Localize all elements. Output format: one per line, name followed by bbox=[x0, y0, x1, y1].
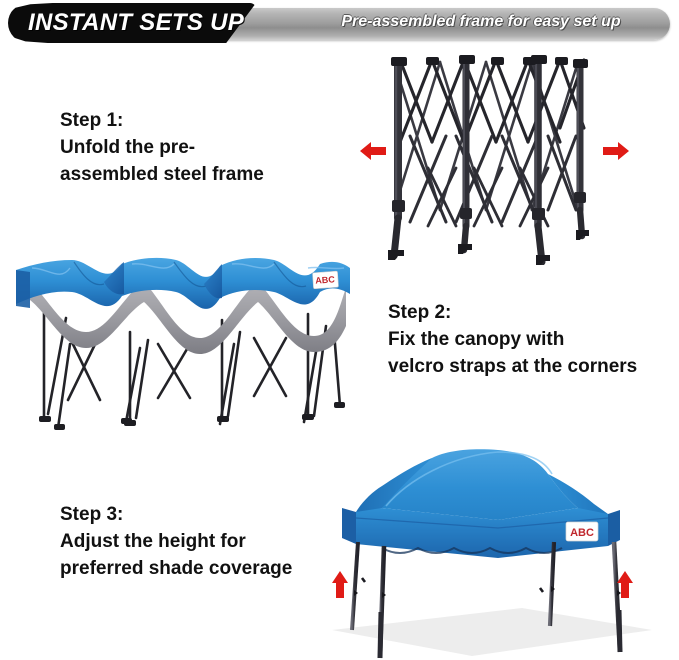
step-2-text: Step 2: Fix the canopy with velcro strap… bbox=[388, 300, 673, 381]
canopy-blue-top bbox=[16, 258, 350, 309]
logo-patch: ABC bbox=[566, 522, 598, 541]
banner-title: INSTANT SETS UP bbox=[28, 9, 248, 37]
arrow-up-height-left bbox=[330, 570, 350, 600]
step-1-text: Step 1: Unfold the pre- assembled steel … bbox=[60, 108, 330, 189]
canopy-valance-right bbox=[608, 510, 620, 546]
svg-text:ABC: ABC bbox=[570, 527, 594, 539]
canopy-partial-open-illustration: ABC bbox=[8, 248, 356, 430]
arrow-up-height-right bbox=[615, 570, 635, 600]
canopy-valance-left bbox=[342, 508, 356, 544]
step-3-text: Step 3: Adjust the height for preferred … bbox=[60, 502, 340, 583]
arrow-right-expand bbox=[601, 140, 631, 162]
assembled-canopy-illustration: ABC bbox=[322, 430, 678, 660]
canopy-roof-top bbox=[382, 449, 578, 520]
banner-subtitle: Pre-assembled frame for easy set up bbox=[296, 13, 666, 31]
logo-patch: ABC bbox=[312, 271, 338, 289]
arrow-left-expand bbox=[358, 140, 388, 162]
folded-steel-frame-illustration bbox=[370, 50, 610, 265]
svg-text:ABC: ABC bbox=[315, 274, 336, 285]
header-banner: INSTANT SETS UP Pre-assembled frame for … bbox=[0, 0, 679, 48]
infographic-page: INSTANT SETS UP Pre-assembled frame for … bbox=[0, 0, 679, 660]
